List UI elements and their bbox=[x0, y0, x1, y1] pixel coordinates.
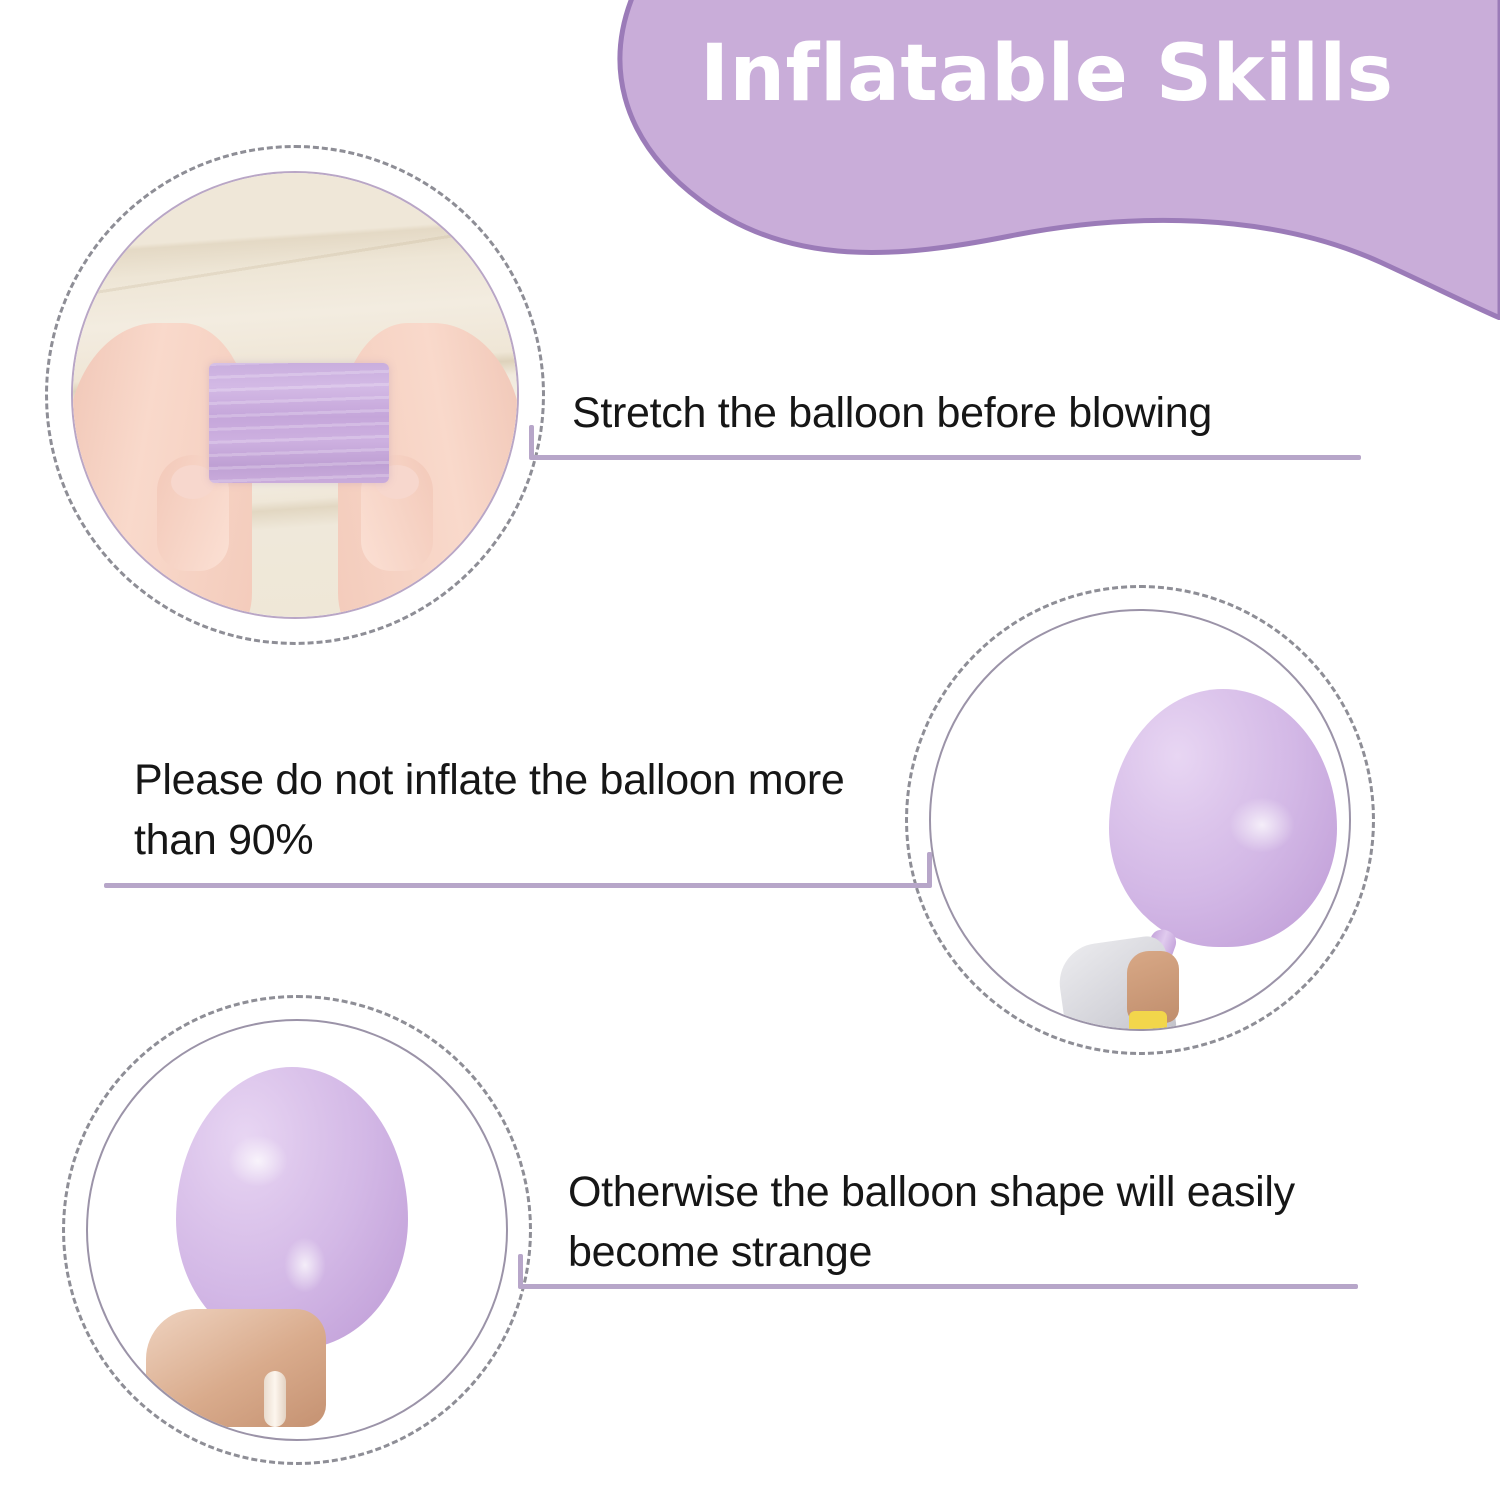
balloon-highlight bbox=[1229, 797, 1295, 853]
photo-over-inflated-balloon bbox=[86, 1019, 508, 1441]
step-3-underline bbox=[518, 1284, 1358, 1289]
step-2-image-bubble bbox=[905, 585, 1375, 1055]
step-2-connector-tick bbox=[927, 852, 932, 886]
balloon-highlight-top bbox=[228, 1135, 288, 1187]
step-1-underline bbox=[529, 455, 1361, 460]
photo-hands-stretching-balloon bbox=[71, 171, 519, 619]
balloon-highlight-lower bbox=[284, 1237, 326, 1293]
step-1-image-bubble bbox=[45, 145, 545, 645]
photo-hand-holding-balloon bbox=[929, 609, 1351, 1031]
page-title: Inflatable Skills bbox=[700, 28, 1500, 122]
step-3-caption: Otherwise the balloon shape will easily … bbox=[568, 1162, 1368, 1282]
step-2-caption: Please do not inflate the balloon more t… bbox=[134, 750, 924, 870]
step-2-underline bbox=[104, 883, 932, 888]
stretched-balloon-latex bbox=[209, 363, 389, 483]
step-1-connector-tick bbox=[529, 425, 534, 459]
balloon-90-percent bbox=[1109, 689, 1337, 947]
hand-and-sleeve bbox=[146, 1309, 326, 1427]
yellow-object bbox=[1129, 1011, 1167, 1031]
balloon-neck-3 bbox=[264, 1371, 286, 1427]
balloon-over-inflated bbox=[176, 1067, 408, 1349]
step-3-connector-tick bbox=[518, 1254, 523, 1288]
infographic-page: Inflatable Skills Stretch the balloon be… bbox=[0, 0, 1500, 1500]
step-3-image-bubble bbox=[62, 995, 532, 1465]
step-1-caption: Stretch the balloon before blowing bbox=[572, 383, 1332, 443]
